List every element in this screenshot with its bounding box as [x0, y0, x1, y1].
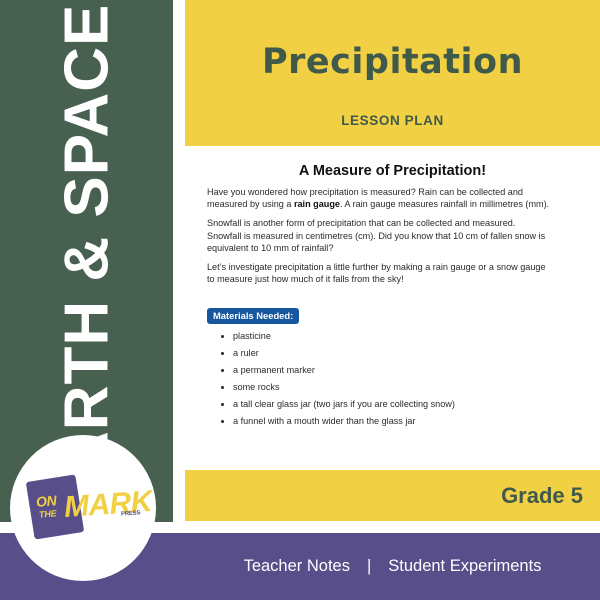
logo-text-mark: MARK	[63, 485, 153, 525]
logo-inner: ON THE MARK PRESS	[10, 435, 156, 581]
lesson-plan-cover: EARTH & SPACE ON THE MARK PRESS Precipit…	[0, 0, 600, 600]
logo-text-the: THE	[39, 508, 57, 519]
body-paragraph: Snowfall is another form of precipitatio…	[207, 217, 552, 254]
body-copy: Have you wondered how precipitation is m…	[207, 186, 552, 292]
list-item: a permanent marker	[233, 364, 493, 376]
grade-bar: Grade 5	[185, 470, 600, 521]
emphasis-term: rain gauge	[294, 199, 340, 209]
footer-student-experiments: Student Experiments	[388, 557, 541, 576]
footer-teacher-notes: Teacher Notes	[244, 557, 350, 576]
list-item: plasticine	[233, 330, 493, 342]
list-item: a tall clear glass jar (two jars if you …	[233, 398, 493, 410]
page-title: Precipitation	[185, 42, 600, 82]
grade-label: Grade 5	[501, 483, 583, 509]
list-item: some rocks	[233, 381, 493, 393]
section-heading: A Measure of Precipitation!	[185, 163, 600, 179]
logo-text-on: ON	[35, 492, 57, 510]
list-item: a ruler	[233, 347, 493, 359]
materials-list: plasticinea rulera permanent markersome …	[215, 330, 493, 431]
materials-needed-badge: Materials Needed:	[207, 308, 299, 324]
page-subtitle: LESSON PLAN	[185, 113, 600, 128]
content-panel: A Measure of Precipitation! Have you won…	[185, 146, 600, 470]
footer-content: Teacher Notes | Student Experiments	[185, 533, 600, 600]
list-item: a funnel with a mouth wider than the gla…	[233, 415, 493, 427]
body-paragraph: Let’s investigate precipitation a little…	[207, 261, 552, 285]
body-paragraph: Have you wondered how precipitation is m…	[207, 186, 552, 210]
title-header: Precipitation LESSON PLAN	[185, 0, 600, 146]
footer-separator: |	[367, 557, 371, 576]
publisher-logo: ON THE MARK PRESS	[10, 435, 156, 581]
